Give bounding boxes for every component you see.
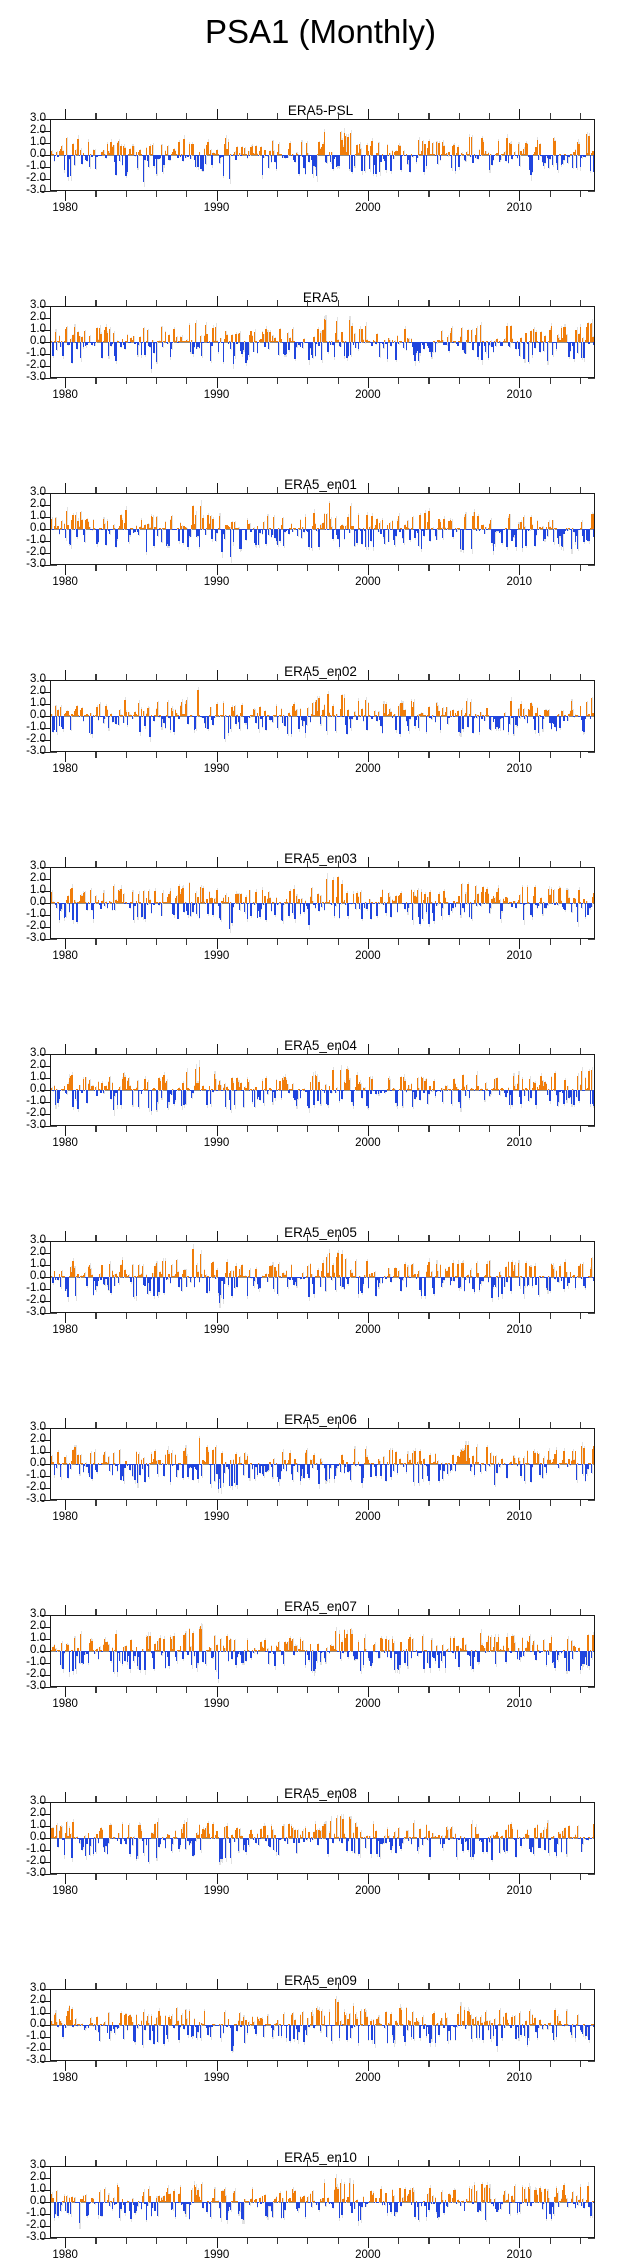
negative-bar <box>129 903 130 908</box>
bar-series <box>51 120 594 190</box>
negative-bar <box>457 342 458 346</box>
negative-bar <box>241 903 242 904</box>
negative-bar <box>297 529 298 536</box>
negative-bar <box>316 155 317 176</box>
positive-bar <box>55 706 56 716</box>
negative-bar <box>205 716 206 728</box>
negative-bar <box>278 903 279 904</box>
negative-bar <box>56 342 57 350</box>
negative-bar <box>108 903 109 904</box>
negative-bar <box>375 342 376 344</box>
positive-bar <box>317 894 318 904</box>
positive-bar <box>566 335 567 342</box>
figure-title: PSA1 (Monthly) <box>0 12 641 52</box>
x-minor-tick <box>126 674 127 680</box>
negative-bar <box>515 529 516 547</box>
negative-bar <box>104 716 105 719</box>
negative-bar <box>571 903 572 912</box>
negative-bar <box>544 155 545 163</box>
negative-bar <box>196 716 197 717</box>
x-axis-labels: 1980199020002010 <box>50 950 595 966</box>
positive-bar <box>422 141 423 155</box>
positive-bar <box>239 333 240 342</box>
negative-bar <box>547 529 548 536</box>
x-minor-tick <box>580 674 581 680</box>
negative-bar <box>590 155 591 171</box>
positive-bar <box>346 893 347 903</box>
x-minor-tick <box>489 378 490 384</box>
x-tick-label: 2000 <box>355 763 381 776</box>
negative-bar <box>581 342 582 358</box>
negative-bar <box>260 903 261 909</box>
negative-bar <box>511 903 512 907</box>
x-axis-labels: 1980199020002010 <box>50 763 595 779</box>
positive-bar <box>326 879 327 903</box>
negative-bar <box>532 903 533 917</box>
negative-bar <box>447 155 448 156</box>
negative-bar <box>229 903 230 929</box>
negative-bar <box>542 903 543 914</box>
negative-bar <box>161 529 162 542</box>
negative-bar <box>178 716 179 719</box>
positive-bar <box>200 506 201 529</box>
negative-bar <box>54 716 55 730</box>
negative-bar <box>123 529 124 530</box>
positive-bar <box>72 144 73 155</box>
positive-bar <box>593 715 594 716</box>
negative-bar <box>148 155 149 167</box>
negative-bar <box>591 903 592 907</box>
x-minor-tick <box>580 300 581 306</box>
negative-bar <box>563 155 564 160</box>
negative-bar <box>582 903 583 904</box>
negative-bar <box>318 903 319 911</box>
negative-bar <box>239 903 240 910</box>
negative-bar <box>383 342 384 348</box>
negative-bar <box>195 716 196 729</box>
negative-bar <box>302 342 303 348</box>
negative-bar <box>408 903 409 908</box>
negative-bar <box>199 342 200 348</box>
negative-bar <box>86 155 87 161</box>
negative-bar <box>318 342 319 346</box>
negative-bar <box>178 529 179 541</box>
x-minor-tick <box>95 674 96 680</box>
positive-bar <box>385 704 386 716</box>
negative-bar <box>509 342 510 347</box>
positive-bar <box>216 704 217 716</box>
x-minor-tick <box>307 487 308 493</box>
negative-bar <box>353 342 354 345</box>
negative-bar <box>327 342 328 352</box>
negative-bar <box>585 716 586 719</box>
negative-bar <box>472 342 473 350</box>
x-minor-tick <box>247 861 248 867</box>
negative-bar <box>258 155 259 156</box>
positive-bar <box>206 334 207 342</box>
negative-bar <box>489 342 490 345</box>
negative-bar <box>265 903 266 920</box>
negative-bar <box>387 342 388 359</box>
positive-bar <box>539 144 540 155</box>
positive-bar <box>109 329 110 342</box>
negative-bar <box>327 155 328 156</box>
negative-bar <box>385 155 386 170</box>
positive-bar <box>267 516 268 529</box>
positive-bar <box>551 326 552 342</box>
negative-bar <box>230 529 231 557</box>
negative-bar <box>462 529 463 550</box>
negative-bar <box>55 155 56 156</box>
negative-bar <box>421 529 422 549</box>
positive-bar <box>210 516 211 529</box>
negative-bar <box>538 529 539 530</box>
positive-bar <box>365 700 366 716</box>
positive-bar <box>183 139 184 155</box>
x-minor-tick <box>247 113 248 119</box>
negative-bar <box>342 716 343 717</box>
x-minor-tick <box>398 752 399 758</box>
positive-bar <box>537 708 538 716</box>
positive-bar <box>466 701 467 716</box>
negative-bar <box>284 716 285 726</box>
negative-bar <box>515 903 516 908</box>
x-major-tick <box>519 670 520 680</box>
positive-bar <box>84 331 85 342</box>
negative-bar <box>460 529 461 549</box>
negative-bar <box>91 716 92 734</box>
x-major-tick <box>519 483 520 493</box>
negative-bar <box>79 155 80 156</box>
negative-bar <box>141 342 142 355</box>
negative-bar <box>426 903 427 912</box>
negative-bar <box>190 903 191 916</box>
negative-bar <box>101 342 102 358</box>
negative-bar <box>64 155 65 170</box>
negative-bar <box>480 903 481 906</box>
positive-bar <box>376 334 377 342</box>
positive-bar <box>171 516 172 529</box>
negative-bar <box>452 342 453 343</box>
positive-bar <box>400 893 401 903</box>
x-major-tick <box>65 752 66 762</box>
negative-bar <box>320 716 321 724</box>
positive-bar <box>467 330 468 342</box>
x-minor-tick <box>277 674 278 680</box>
negative-bar <box>236 342 237 344</box>
x-minor-tick <box>126 939 127 945</box>
negative-bar <box>529 529 530 530</box>
negative-bar <box>412 903 413 920</box>
negative-bar <box>81 155 82 164</box>
x-minor-tick <box>307 939 308 945</box>
negative-bar <box>354 155 355 166</box>
negative-bar <box>552 155 553 165</box>
negative-bar <box>376 903 377 916</box>
x-minor-tick <box>307 752 308 758</box>
positive-bar <box>506 326 507 342</box>
x-minor-tick <box>459 191 460 197</box>
negative-bar <box>283 903 284 905</box>
negative-bar <box>440 155 441 160</box>
y-major-tick <box>40 493 50 494</box>
y-major-tick <box>40 740 50 741</box>
positive-bar <box>240 894 241 903</box>
positive-bar <box>358 515 359 529</box>
negative-bar <box>247 903 248 919</box>
negative-bar <box>339 903 340 918</box>
positive-bar <box>287 333 288 342</box>
negative-bar <box>547 342 548 361</box>
x-major-tick <box>65 483 66 493</box>
x-minor-tick <box>459 487 460 493</box>
negative-bar <box>350 342 351 355</box>
positive-bar <box>77 139 78 155</box>
negative-bar <box>501 529 502 543</box>
negative-bar <box>477 155 478 159</box>
negative-bar <box>400 155 401 170</box>
negative-bar <box>361 903 362 919</box>
negative-bar <box>340 903 341 904</box>
negative-bar <box>363 716 364 721</box>
negative-bar <box>373 716 374 717</box>
x-major-tick <box>217 109 218 119</box>
x-minor-tick <box>307 565 308 571</box>
negative-bar <box>346 716 347 734</box>
negative-bar <box>524 716 525 719</box>
positive-bar <box>262 890 263 903</box>
negative-bar <box>577 342 578 353</box>
positive-bar <box>417 890 418 903</box>
positive-bar <box>122 520 123 529</box>
negative-bar <box>69 903 70 912</box>
positive-bar <box>518 709 519 716</box>
negative-bar <box>549 155 550 159</box>
negative-bar <box>308 155 309 162</box>
negative-bar <box>585 155 586 157</box>
negative-bar <box>170 155 171 160</box>
negative-bar <box>403 342 404 348</box>
x-tick-label: 2010 <box>507 950 533 963</box>
negative-bar <box>137 903 138 917</box>
positive-bar <box>537 521 538 529</box>
bar-series <box>51 681 594 751</box>
positive-bar <box>510 144 511 156</box>
negative-bar <box>435 155 436 156</box>
negative-bar <box>70 529 71 545</box>
x-minor-tick <box>247 191 248 197</box>
negative-bar <box>321 342 322 360</box>
x-minor-tick <box>126 565 127 571</box>
negative-bar <box>277 716 278 728</box>
negative-bar <box>346 529 347 530</box>
x-minor-tick <box>338 565 339 571</box>
x-minor-tick <box>459 113 460 119</box>
positive-bar <box>344 698 345 716</box>
positive-bar <box>88 142 89 155</box>
x-minor-tick <box>338 113 339 119</box>
plot-area <box>50 493 595 565</box>
positive-bar <box>586 134 587 155</box>
positive-bar <box>124 148 125 155</box>
positive-bar <box>118 141 119 155</box>
positive-bar <box>588 136 589 155</box>
x-tick-label: 2000 <box>355 389 381 402</box>
negative-bar <box>422 903 423 919</box>
negative-bar <box>423 342 424 349</box>
negative-bar <box>163 155 164 165</box>
positive-bar <box>578 890 579 903</box>
negative-bar <box>254 903 255 905</box>
negative-bar <box>190 155 191 159</box>
positive-bar <box>371 141 372 155</box>
x-tick-label: 2000 <box>355 950 381 963</box>
negative-bar <box>559 716 560 728</box>
negative-bar <box>557 155 558 170</box>
negative-bar <box>455 903 456 907</box>
x-minor-tick <box>277 565 278 571</box>
negative-bar <box>448 716 449 718</box>
x-major-tick <box>519 378 520 388</box>
x-minor-tick <box>550 674 551 680</box>
x-minor-tick <box>95 191 96 197</box>
negative-bar <box>176 529 177 530</box>
x-major-tick <box>65 565 66 575</box>
negative-bar <box>522 529 523 548</box>
positive-bar <box>168 335 169 342</box>
negative-bar <box>373 529 374 547</box>
x-major-tick <box>368 752 369 762</box>
positive-bar <box>581 522 582 529</box>
x-tick-rail-top <box>50 670 595 680</box>
negative-bar <box>171 342 172 349</box>
shadow-bar <box>594 342 595 346</box>
negative-bar <box>390 529 391 530</box>
x-major-tick <box>519 296 520 306</box>
negative-bar <box>305 155 306 174</box>
x-axis-labels: 1980199020002010 <box>50 576 595 592</box>
positive-bar <box>458 896 459 903</box>
x-minor-tick <box>307 191 308 197</box>
negative-bar <box>370 529 371 541</box>
negative-bar <box>219 342 220 343</box>
positive-bar <box>341 695 342 716</box>
x-minor-tick <box>459 939 460 945</box>
negative-bar <box>70 716 71 730</box>
negative-bar <box>190 529 191 537</box>
negative-bar <box>490 716 491 730</box>
negative-bar <box>365 529 366 547</box>
negative-bar <box>100 155 101 156</box>
negative-bar <box>91 529 92 530</box>
x-minor-tick <box>550 861 551 867</box>
negative-bar <box>300 155 301 156</box>
x-tick-label: 1990 <box>204 389 230 402</box>
negative-bar <box>543 342 544 351</box>
negative-bar <box>368 529 369 547</box>
y-major-tick <box>40 565 50 566</box>
negative-bar <box>327 529 328 530</box>
negative-bar <box>481 716 482 719</box>
negative-bar <box>61 903 62 909</box>
x-minor-tick <box>398 861 399 867</box>
negative-bar <box>388 155 389 156</box>
x-tick-rail-bottom <box>50 191 595 201</box>
negative-bar <box>255 716 256 723</box>
negative-bar <box>207 903 208 914</box>
x-minor-tick <box>550 113 551 119</box>
negative-bar <box>590 716 591 719</box>
y-major-tick <box>40 1054 50 1055</box>
negative-bar <box>57 155 58 157</box>
x-major-tick <box>217 378 218 388</box>
positive-bar <box>231 335 232 342</box>
x-minor-tick <box>186 300 187 306</box>
negative-bar <box>187 903 188 915</box>
negative-bar <box>301 529 302 538</box>
negative-bar <box>527 716 528 723</box>
negative-bar <box>500 155 501 160</box>
y-axis-labels: 3.02.01.00.0-1.0-2.0-3.0 <box>0 493 46 565</box>
x-tick-rail-top <box>50 296 595 306</box>
positive-bar <box>165 522 166 529</box>
x-major-tick <box>368 670 369 680</box>
positive-bar <box>533 329 534 342</box>
negative-bar <box>469 903 470 917</box>
negative-bar <box>395 716 396 730</box>
negative-bar <box>286 342 287 354</box>
negative-bar <box>199 903 200 918</box>
positive-bar <box>488 894 489 903</box>
negative-bar <box>374 903 375 904</box>
negative-bar <box>234 342 235 356</box>
positive-bar <box>195 515 196 529</box>
y-major-tick <box>40 1066 50 1067</box>
positive-bar <box>141 709 142 716</box>
negative-bar <box>364 155 365 171</box>
positive-bar <box>300 709 301 716</box>
negative-bar <box>71 342 72 363</box>
negative-bar <box>120 342 121 347</box>
negative-bar <box>59 1090 60 1099</box>
x-minor-tick <box>126 487 127 493</box>
negative-bar <box>177 903 178 919</box>
negative-bar <box>573 716 574 717</box>
negative-bar <box>76 529 77 537</box>
positive-bar <box>223 703 224 717</box>
negative-bar <box>426 716 427 732</box>
negative-bar <box>247 155 248 158</box>
positive-bar <box>231 522 232 529</box>
negative-bar <box>528 342 529 362</box>
negative-bar <box>59 716 60 726</box>
negative-bar <box>144 342 145 355</box>
x-minor-tick <box>459 300 460 306</box>
x-major-tick <box>519 939 520 949</box>
negative-bar <box>431 716 432 719</box>
positive-bar <box>465 514 466 529</box>
negative-bar <box>480 529 481 530</box>
x-minor-tick <box>338 861 339 867</box>
positive-bar <box>226 335 227 342</box>
negative-bar <box>52 529 53 530</box>
negative-bar <box>182 529 183 543</box>
negative-bar <box>249 716 250 718</box>
positive-bar <box>404 329 405 342</box>
x-minor-tick <box>428 565 429 571</box>
negative-bar <box>316 529 317 531</box>
positive-bar <box>152 145 153 155</box>
